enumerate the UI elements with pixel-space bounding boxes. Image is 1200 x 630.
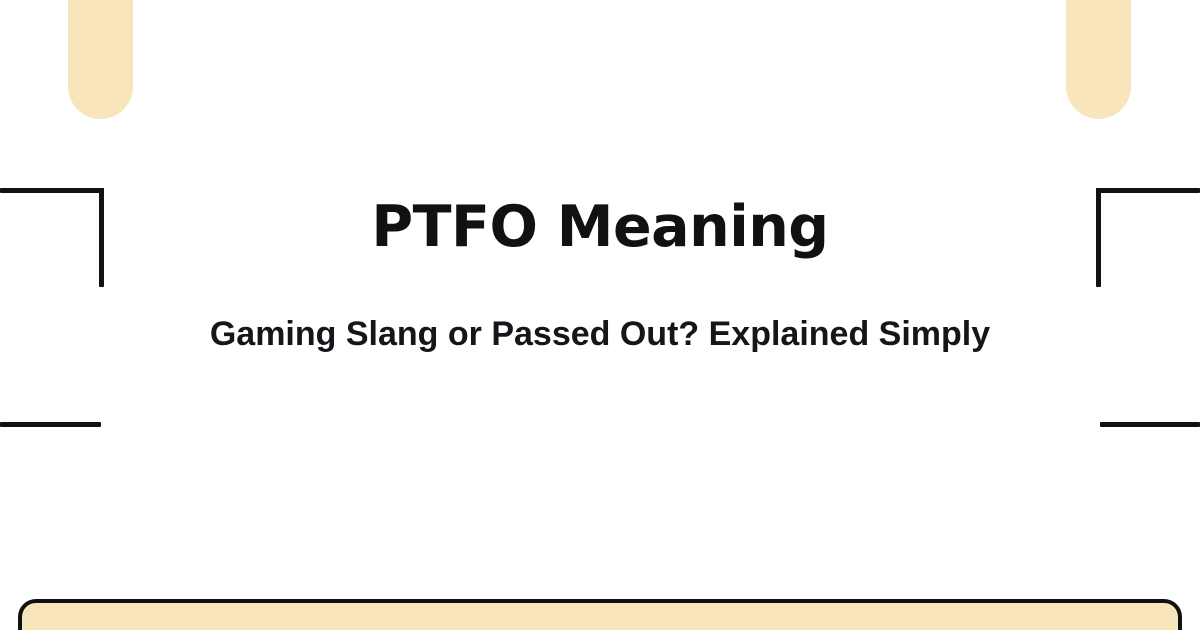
rule-right [1100,422,1200,427]
page-subtitle: Gaming Slang or Passed Out? Explained Si… [0,313,1200,356]
cream-bar-left [68,0,133,119]
cream-card [18,599,1182,630]
cover-canvas: PTFO Meaning Gaming Slang or Passed Out?… [0,0,1200,630]
page-title: PTFO Meaning [0,196,1200,259]
rule-left [0,422,101,427]
bracket-horizontal-stroke [1096,188,1200,193]
bracket-horizontal-stroke [0,188,104,193]
cream-bar-right [1066,0,1131,119]
